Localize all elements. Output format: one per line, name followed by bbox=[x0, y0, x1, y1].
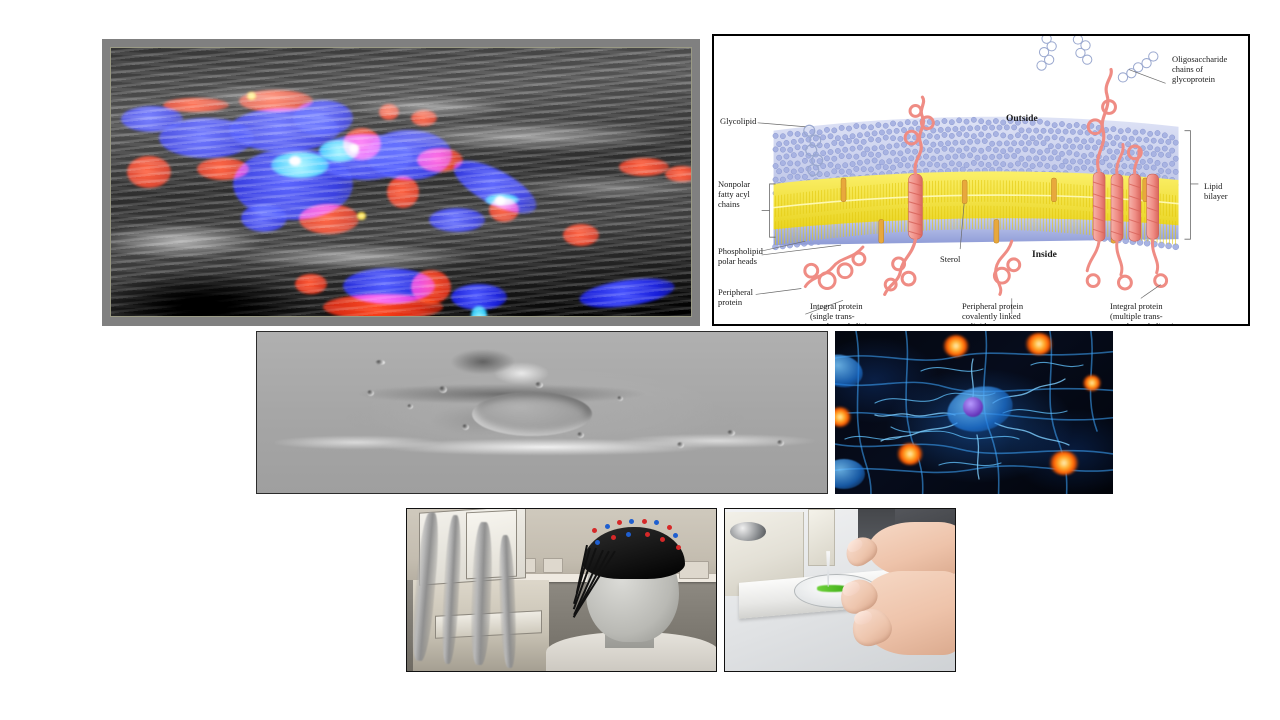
label-integral-protein-multiple: Integral protein (multiple trans- membra… bbox=[1110, 301, 1174, 326]
label-peripheral-protein: Peripheral protein bbox=[718, 287, 753, 307]
operator-hand-upper bbox=[868, 522, 956, 577]
label-outside: Outside bbox=[1006, 114, 1038, 124]
doppler-peak-blob bbox=[289, 156, 301, 166]
panel-eeg-cap-photo[interactable] bbox=[406, 508, 717, 672]
label-peripheral-protein-linked: Peripheral protein covalently linked to … bbox=[962, 301, 1023, 326]
doppler-flow-blob bbox=[387, 176, 419, 208]
doppler-peak-blob bbox=[247, 92, 256, 100]
synaptic-spark bbox=[1025, 333, 1053, 355]
doppler-flow-blob bbox=[417, 148, 463, 172]
panel-dic-cell-micrograph[interactable] bbox=[256, 331, 828, 494]
panel-plasma-membrane-diagram[interactable]: Glycolipid Nonpolar fatty acyl chains Ph… bbox=[712, 34, 1250, 326]
dic-debris bbox=[375, 360, 385, 365]
label-oligosaccharide-chains: Oligosaccharide chains of glycoprotein bbox=[1172, 54, 1227, 84]
doppler-flow-blob bbox=[563, 224, 599, 246]
synaptic-spark bbox=[897, 443, 923, 465]
dic-granule bbox=[777, 440, 784, 446]
label-nonpolar-fatty-acyl-chains: Nonpolar fatty acyl chains bbox=[718, 179, 750, 209]
synaptic-spark bbox=[1049, 451, 1079, 475]
dic-granule bbox=[617, 396, 623, 401]
eeg-electrode bbox=[660, 537, 665, 542]
doppler-peak-blob bbox=[357, 212, 366, 220]
panel-micromanipulator-pipetting-photo[interactable] bbox=[724, 508, 956, 672]
eeg-electrode bbox=[611, 535, 616, 540]
doppler-peak-blob bbox=[349, 144, 359, 153]
doppler-flow-blob bbox=[295, 274, 327, 294]
doppler-peak-blob bbox=[495, 196, 505, 205]
doppler-flow-blob bbox=[429, 208, 485, 232]
eeg-electrode bbox=[605, 524, 610, 529]
dic-granule bbox=[367, 390, 374, 396]
label-integral-protein-single: Integral protein (single trans- membrane… bbox=[810, 301, 868, 326]
eeg-electrode bbox=[645, 532, 650, 537]
synaptic-spark bbox=[1083, 375, 1101, 391]
ultrasound-image bbox=[110, 47, 692, 317]
dic-granule bbox=[462, 424, 469, 430]
label-lipid-bilayer: Lipid bilayer bbox=[1204, 181, 1228, 201]
dic-granule bbox=[535, 382, 543, 388]
dic-cell-nucleus bbox=[472, 392, 592, 436]
slide-canvas: Glycolipid Nonpolar fatty acyl chains Ph… bbox=[0, 0, 1280, 720]
label-sterol: Sterol bbox=[940, 254, 960, 264]
dic-granule bbox=[727, 430, 735, 436]
membrane-illustration bbox=[714, 36, 1248, 324]
panel-neuron-network-illustration[interactable] bbox=[835, 331, 1113, 494]
synaptic-spark bbox=[943, 335, 969, 357]
eeg-electrode bbox=[676, 545, 681, 550]
doppler-flow-blob bbox=[411, 110, 437, 126]
doppler-flow-blob bbox=[163, 98, 229, 112]
doppler-flow-blob bbox=[127, 156, 171, 188]
dic-granule bbox=[407, 404, 413, 409]
dic-cell-ridge bbox=[447, 348, 567, 394]
dic-granule bbox=[439, 386, 447, 393]
doppler-flow-blob bbox=[197, 158, 249, 180]
doppler-flow-blob bbox=[619, 158, 669, 176]
eeg-wall-socket bbox=[543, 558, 564, 573]
eeg-electrode bbox=[642, 519, 647, 524]
panel-color-doppler-ultrasound[interactable] bbox=[102, 39, 700, 326]
doppler-aliasing-blob bbox=[471, 306, 487, 317]
label-inside: Inside bbox=[1032, 250, 1057, 260]
eeg-electrode bbox=[667, 525, 672, 530]
doppler-flow-blob bbox=[299, 204, 359, 234]
label-phospholipid-polar-heads: Phospholipid polar heads bbox=[718, 246, 763, 266]
doppler-flow-blob bbox=[379, 104, 399, 120]
doppler-flow-blob bbox=[241, 204, 287, 232]
neuron-nucleus bbox=[963, 397, 983, 417]
dic-granule bbox=[677, 442, 684, 448]
pipette-holder bbox=[808, 509, 835, 566]
doppler-flow-blob bbox=[411, 270, 451, 304]
doppler-flow-blob bbox=[665, 166, 692, 182]
label-glycolipid: Glycolipid bbox=[720, 116, 756, 126]
dic-granule bbox=[577, 432, 584, 438]
